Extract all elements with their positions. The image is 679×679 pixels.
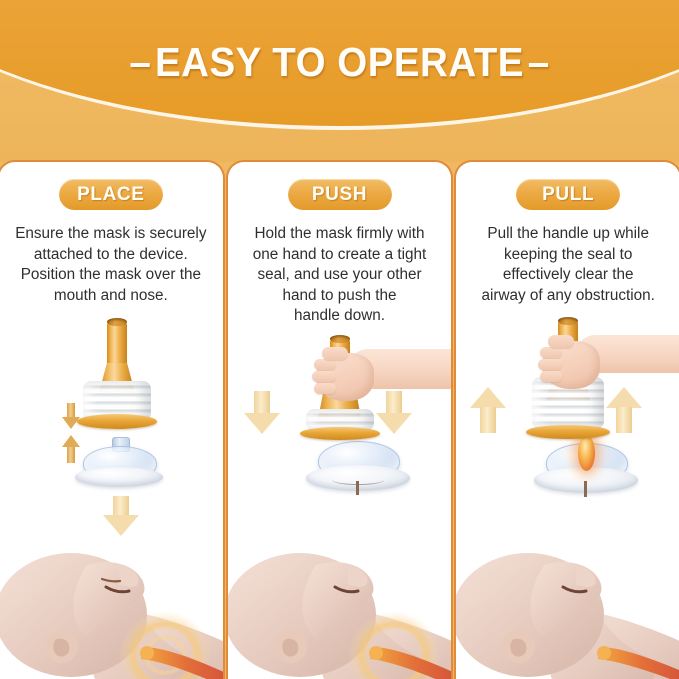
large-down-arrow-icon-1 xyxy=(103,496,139,536)
patient-head-profile-2 xyxy=(226,529,454,679)
step-card-pull[interactable]: PULL Pull the handle up while keeping th… xyxy=(454,160,679,679)
device-assembly-2 xyxy=(284,339,424,459)
mask-cuff-1 xyxy=(75,467,163,487)
step-text-pull: Pull the handle up while keeping the sea… xyxy=(466,224,670,306)
mask-assembly-1 xyxy=(73,437,165,489)
handle-rim-3 xyxy=(558,317,578,325)
step-text-place: Ensure the mask is securely attached to … xyxy=(9,224,213,306)
step-card-push[interactable]: PUSH Hold the mask firmly with one hand … xyxy=(226,160,454,679)
head-svg-3 xyxy=(454,529,679,679)
steps-container: PLACE Ensure the mask is securely attach… xyxy=(0,160,679,679)
mask-valve-stem-2 xyxy=(356,481,359,495)
head-svg-2 xyxy=(226,529,454,679)
dash-right-decoration: – xyxy=(524,36,553,88)
down-arrow-icon-left-2 xyxy=(244,391,280,435)
device-flange-2 xyxy=(300,427,380,440)
device-flange-3 xyxy=(526,425,610,439)
device-assembly-1 xyxy=(61,319,181,434)
step-card-place[interactable]: PLACE Ensure the mask is securely attach… xyxy=(0,160,225,679)
up-arrow-icon-1 xyxy=(62,435,80,463)
illustration-pull xyxy=(456,329,679,679)
step-badge-push: PUSH xyxy=(288,179,392,210)
device-handle-3 xyxy=(558,321,578,347)
handle-rim-2 xyxy=(330,335,350,343)
page-title: –EASY TO OPERATE– xyxy=(20,36,658,88)
header-banner: –EASY TO OPERATE– xyxy=(0,0,679,162)
illustration-push xyxy=(228,329,452,679)
poster-root: –EASY TO OPERATE– PLACE Ensure the mask … xyxy=(0,0,679,679)
head-svg-1 xyxy=(0,529,225,679)
step-text-push: Hold the mask firmly with one hand to cr… xyxy=(238,224,442,327)
handle-rim-1 xyxy=(107,318,127,326)
up-arrow-icon-left-3 xyxy=(470,387,506,433)
step-badge-place: PLACE xyxy=(59,179,163,210)
page-title-text: EASY TO OPERATE xyxy=(155,39,524,85)
device-assembly-3 xyxy=(512,321,652,451)
patient-head-profile-1 xyxy=(0,529,225,679)
dash-left-decoration: – xyxy=(126,36,155,88)
device-bellows-3 xyxy=(532,377,604,429)
patient-head-profile-3 xyxy=(454,529,679,679)
step-badge-pull: PULL xyxy=(516,179,620,210)
device-handle-2 xyxy=(330,339,350,361)
illustration-place xyxy=(0,329,223,679)
device-flange-1 xyxy=(77,414,157,429)
device-handle-1 xyxy=(107,322,127,366)
mask-valve-stem-3 xyxy=(584,481,587,497)
